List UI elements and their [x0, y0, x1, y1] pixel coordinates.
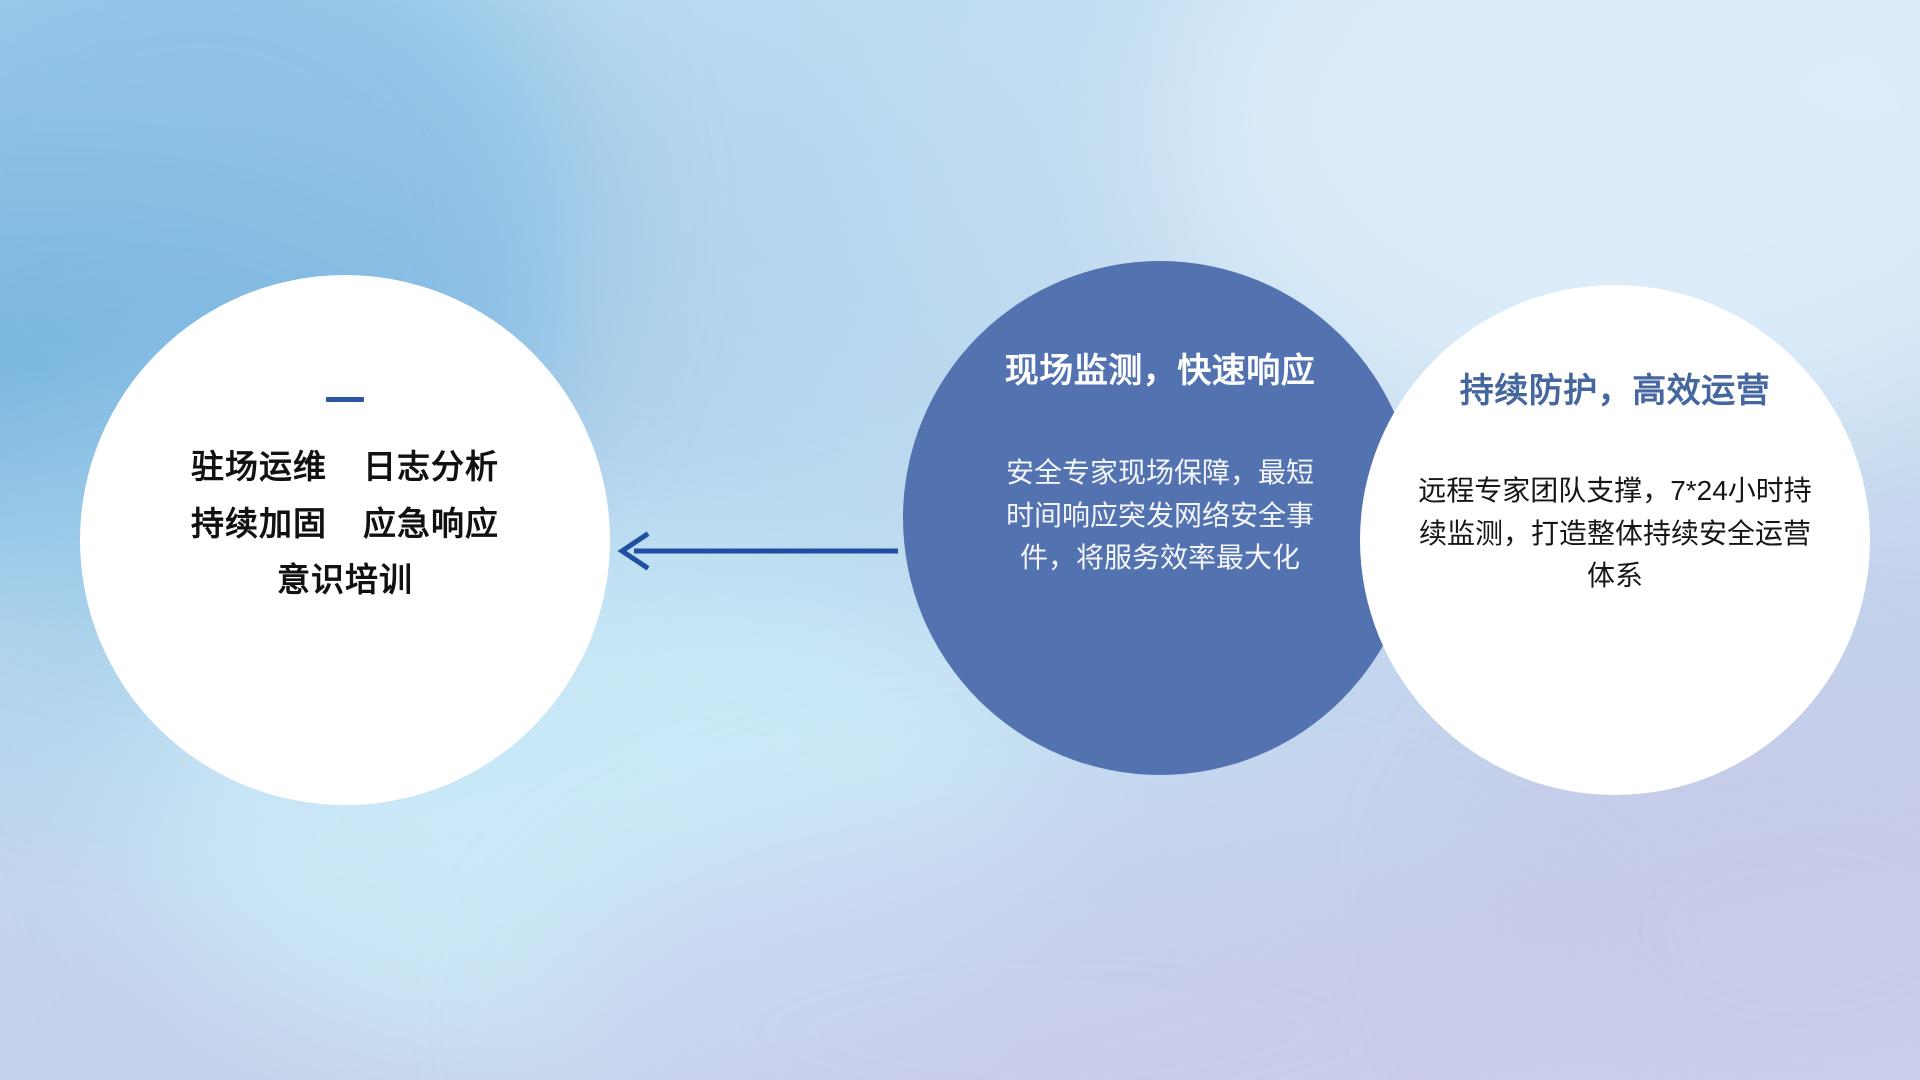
capabilities-circle[interactable]: 驻场运维 日志分析 持续加固 应急响应 意识培训	[80, 275, 610, 805]
slide-canvas: 驻场运维 日志分析 持续加固 应急响应 意识培训 现场监测，快速响应 安全专家现…	[0, 0, 1920, 1080]
capability-keyword[interactable]: 持续加固	[191, 507, 327, 542]
capability-keyword[interactable]: 应急响应	[363, 507, 499, 542]
continuous-operation-circle[interactable]: 持续防护，高效运营 远程专家团队支撑，7*24小时持续监测，打造整体持续安全运营…	[1360, 285, 1870, 795]
capability-row: 意识培训	[191, 563, 499, 598]
capability-row: 驻场运维 日志分析	[191, 450, 499, 485]
background-blob-lower-center	[560, 820, 1560, 1080]
continuous-operation-content: 持续防护，高效运营 远程专家团队支撑，7*24小时持续监测，打造整体持续安全运营…	[1360, 285, 1870, 598]
continuous-operation-description: 远程专家团队支撑，7*24小时持续监测，打造整体持续安全运营体系	[1415, 470, 1815, 598]
capability-row: 持续加固 应急响应	[191, 507, 499, 542]
capability-keyword[interactable]: 日志分析	[363, 450, 499, 485]
capability-keyword-list: 驻场运维 日志分析 持续加固 应急响应 意识培训	[191, 450, 499, 598]
onsite-monitoring-circle[interactable]: 现场监测，快速响应 安全专家现场保障，最短时间响应突发网络安全事件，将服务效率最…	[903, 261, 1417, 775]
capabilities-content: 驻场运维 日志分析 持续加固 应急响应 意识培训	[80, 275, 610, 598]
onsite-monitoring-title: 现场监测，快速响应	[1005, 343, 1316, 392]
onsite-monitoring-description: 安全专家现场保障，最短时间响应突发网络安全事件，将服务效率最大化	[995, 452, 1325, 580]
accent-dash-divider	[326, 397, 364, 402]
onsite-monitoring-content: 现场监测，快速响应 安全专家现场保障，最短时间响应突发网络安全事件，将服务效率最…	[903, 261, 1417, 580]
capability-keyword[interactable]: 意识培训	[277, 563, 413, 598]
flow-arrow-left-icon	[600, 520, 900, 580]
continuous-operation-title: 持续防护，高效运营	[1460, 363, 1771, 412]
capability-keyword[interactable]: 驻场运维	[191, 450, 327, 485]
